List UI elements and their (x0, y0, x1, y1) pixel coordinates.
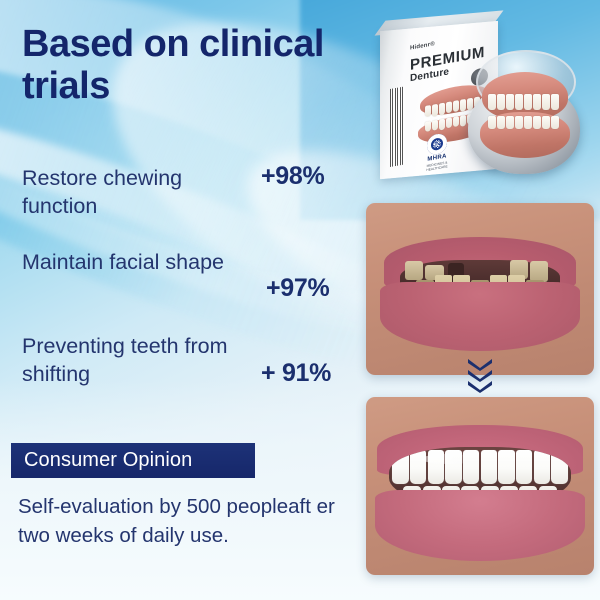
sunburst-logo-icon (427, 132, 447, 155)
after-photo (366, 397, 594, 575)
transition-arrows (466, 358, 496, 396)
before-lower-lip (380, 282, 581, 351)
consumer-opinion-label: Consumer Opinion (11, 449, 192, 472)
benefit-row: Preventing teeth from shifting + 91% (18, 333, 358, 417)
benefit-row: Maintain facial shape +97% (18, 249, 358, 333)
after-upper-teeth (392, 450, 567, 484)
certification-badge: MHRA MEDICINES & HEALTHCARE (420, 131, 454, 173)
infographic-canvas: Based on clinical trials Restore chewing… (0, 0, 600, 600)
after-lower-lip (375, 490, 585, 561)
benefit-value: +97% (266, 274, 329, 303)
benefit-row: Restore chewing function +98% (18, 165, 358, 249)
benefit-value: + 91% (261, 359, 331, 388)
benefit-value: +98% (261, 162, 324, 191)
benefit-label: Restore chewing function (22, 165, 237, 221)
benefit-list: Restore chewing function +98% Maintain f… (18, 165, 358, 417)
benefit-label: Maintain facial shape (22, 249, 237, 277)
consumer-opinion-body: Self-evaluation by 500 peopleaft er two … (18, 492, 370, 550)
page-title: Based on clinical trials (22, 24, 367, 108)
tooth-shine-highlight (422, 454, 477, 464)
consumer-opinion-bar: Consumer Opinion (11, 443, 255, 478)
denture-model-photo (468, 50, 580, 174)
before-photo (366, 203, 594, 375)
upper-tooth-row (488, 94, 559, 110)
barcode-icon (390, 86, 405, 167)
product-brand: Hidenr® (410, 41, 435, 51)
lower-tooth-row (488, 116, 559, 129)
product-package-image: Hidenr® PREMIUM Denture (372, 22, 582, 187)
benefit-label: Preventing teeth from shifting (22, 333, 237, 389)
chevron-down-icon (466, 380, 494, 393)
